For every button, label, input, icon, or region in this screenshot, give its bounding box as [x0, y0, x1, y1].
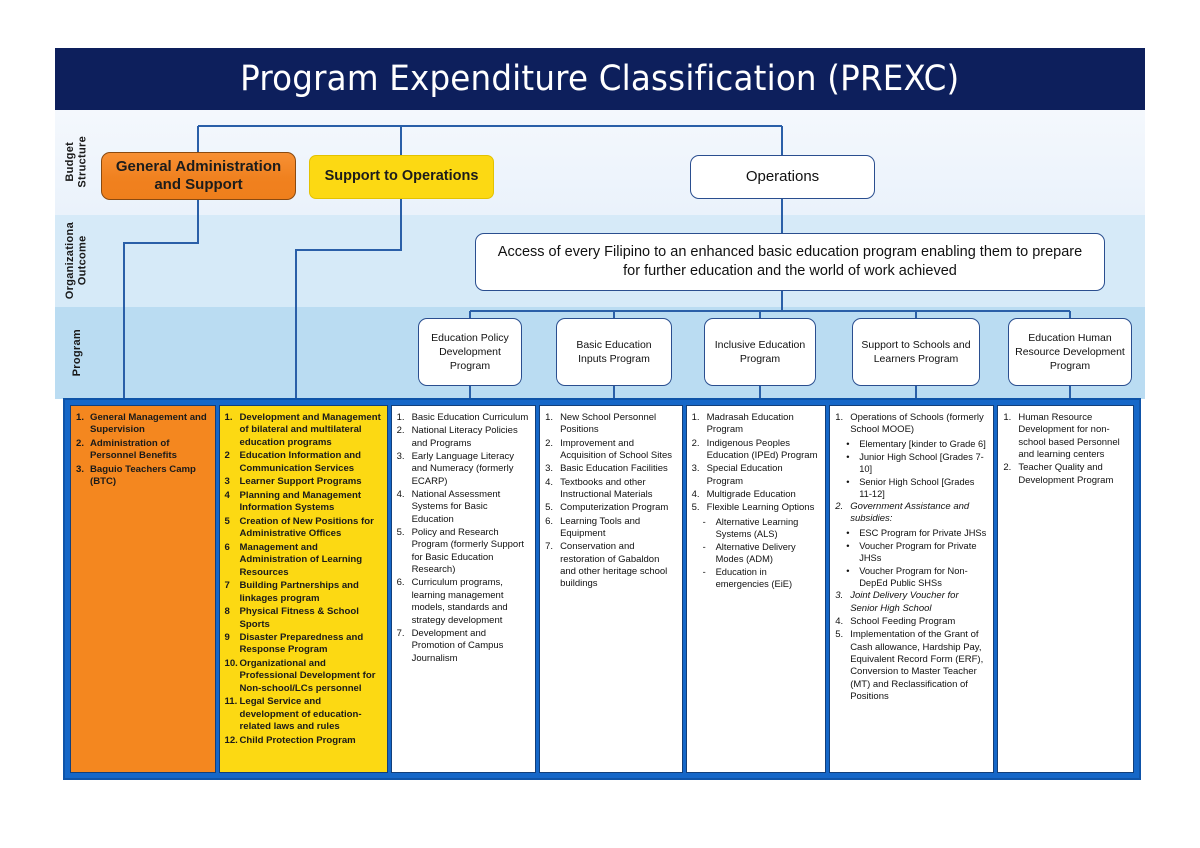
list-item: 2.Administration of Personnel Benefits [76, 438, 210, 463]
list-item-marker: - [703, 541, 717, 553]
list-item: 5.Policy and Research Program (formerly … [397, 527, 531, 576]
list-item-text: Textbooks and other Instructional Materi… [560, 477, 652, 500]
node-organizational-outcome-text: Access of every Filipino to an enhanced … [488, 243, 1092, 281]
list-item-marker: 4. [397, 489, 411, 501]
list-item-marker: 2. [835, 501, 849, 513]
list-item-text: Improvement and Acquisition of School Si… [560, 438, 672, 461]
detail-list: 1.Human Resource Development for non-sch… [1003, 412, 1128, 487]
list-item: 7Building Partnerships and linkages prog… [225, 580, 382, 605]
list-item-text: Planning and Management Information Syst… [240, 490, 362, 513]
list-item-text: Basic Education Facilities [560, 463, 668, 474]
list-item: 5.Implementation of the Grant of Cash al… [835, 629, 988, 703]
list-item: 6.Learning Tools and Equipment [545, 516, 677, 541]
detail-column-support-to-operations: 1.Development and Management of bilatera… [219, 405, 388, 773]
list-item: 3.Special Education Program [692, 463, 821, 488]
list-item-marker: 5 [225, 516, 239, 528]
node-general-administration-and-support[interactable]: General Administration and Support [101, 152, 296, 200]
detail-column-education-human-resource-development-program: 1.Human Resource Development for non-sch… [997, 405, 1134, 773]
list-item: 5.Flexible Learning Options [692, 502, 821, 514]
list-item-marker: 4. [835, 616, 849, 628]
list-item: •Voucher Program for Non-DepEd Public SH… [835, 565, 988, 589]
list-item-text: Indigenous Peoples Education (IPEd) Prog… [707, 438, 818, 461]
detail-list: 1.New School Personnel Positions2.Improv… [545, 412, 677, 591]
program-node-4[interactable]: Education Human Resource Development Pro… [1008, 318, 1132, 386]
list-item-text: Disaster Preparedness and Response Progr… [240, 632, 364, 655]
list-item-text: Physical Fitness & School Sports [240, 606, 359, 629]
list-item-text: General Management and Supervision [90, 412, 207, 435]
list-item: 11.Legal Service and development of educ… [225, 696, 382, 733]
list-item-marker: 4 [225, 490, 239, 502]
list-item: 3.Basic Education Facilities [545, 463, 677, 475]
list-item-marker: 1. [397, 412, 411, 424]
program-node-label: Education Human Resource Development Pro… [1014, 331, 1126, 374]
list-item-text: Basic Education Curriculum [412, 412, 529, 423]
row-label-organizational-outcome: Organizationa Outcome [58, 216, 96, 306]
list-item-marker: • [846, 451, 860, 463]
list-item-text: Junior High School [Grades 7-10] [859, 452, 984, 474]
program-node-0[interactable]: Education Policy Development Program [418, 318, 522, 386]
list-item-text: Multigrade Education [707, 489, 796, 500]
list-item: 4.Multigrade Education [692, 489, 821, 501]
list-item-text: Human Resource Development for non-schoo… [1018, 412, 1119, 460]
list-item-marker: 3. [692, 463, 706, 475]
list-item-text: Building Partnerships and linkages progr… [240, 580, 359, 603]
list-item-text: Early Language Literacy and Numeracy (fo… [412, 451, 514, 487]
list-item-marker: 7. [545, 541, 559, 553]
program-node-label: Support to Schools and Learners Program [858, 338, 974, 366]
list-item-marker: 1. [545, 412, 559, 424]
list-item-marker: 8 [225, 606, 239, 618]
list-item: 2.Improvement and Acquisition of School … [545, 438, 677, 463]
list-item-text: Policy and Research Program (formerly Su… [412, 527, 524, 575]
list-item: 1.Basic Education Curriculum [397, 412, 531, 424]
list-item: -Education in emergencies (EiE) [692, 566, 821, 590]
node-operations[interactable]: Operations [690, 155, 875, 199]
list-item-marker: • [846, 540, 860, 552]
program-node-label: Education Policy Development Program [424, 331, 516, 374]
list-item-marker: 6 [225, 542, 239, 554]
list-item-marker: 9 [225, 632, 239, 644]
detail-column-general-administration-and-support: 1.General Management and Supervision2.Ad… [70, 405, 216, 773]
list-item-marker: 2. [692, 438, 706, 450]
list-item-text: Government Assistance and subsidies: [850, 501, 969, 524]
list-item-marker: 1. [76, 412, 90, 424]
list-item-text: Madrasah Education Program [707, 412, 794, 435]
list-item-text: Elementary [kinder to Grade 6] [859, 439, 986, 449]
list-item-text: New School Personnel Positions [560, 412, 656, 435]
list-item-marker: 3. [545, 463, 559, 475]
list-item: •Voucher Program for Private JHSs [835, 540, 988, 564]
list-item-text: Learner Support Programs [240, 476, 362, 487]
list-item: 8Physical Fitness & School Sports [225, 606, 382, 631]
list-item-text: Education in emergencies (EiE) [716, 567, 792, 589]
list-item: 2.Teacher Quality and Development Progra… [1003, 462, 1128, 487]
list-item-text: Operations of Schools (formerly School M… [850, 412, 984, 435]
list-item-text: Voucher Program for Non-DepEd Public SHS… [859, 566, 968, 588]
list-item: 1.Development and Management of bilatera… [225, 412, 382, 449]
list-item: 2.National Literacy Policies and Program… [397, 425, 531, 450]
program-node-label: Inclusive Education Program [710, 338, 810, 366]
list-item-text: Education Information and Communication … [240, 450, 362, 473]
detail-column-support-to-schools-and-learners-program: 1.Operations of Schools (formerly School… [829, 405, 994, 773]
list-item-text: Joint Delivery Voucher for Senior High S… [850, 590, 958, 613]
list-item-marker: 2. [397, 425, 411, 437]
list-item: 4Planning and Management Information Sys… [225, 490, 382, 515]
detail-list: 1.Basic Education Curriculum2.National L… [397, 412, 531, 665]
list-item-marker: 3 [225, 476, 239, 488]
list-item: 6.Curriculum programs, learning manageme… [397, 577, 531, 626]
program-node-label: Basic Education Inputs Program [562, 338, 666, 366]
list-item-marker: 3. [76, 464, 90, 476]
detail-list: 1.Development and Management of bilatera… [225, 412, 382, 747]
list-item-marker: 2. [76, 438, 90, 450]
list-item-text: Legal Service and development of educati… [240, 696, 362, 732]
node-sto-label: Support to Operations [325, 168, 479, 185]
list-item-text: Special Education Program [707, 463, 783, 486]
list-item: 5.Computerization Program [545, 502, 677, 514]
list-item-marker: 5. [545, 502, 559, 514]
list-item-text: Computerization Program [560, 502, 668, 513]
list-item: 3Learner Support Programs [225, 476, 382, 488]
list-item: •Junior High School [Grades 7-10] [835, 451, 988, 475]
list-item-marker: 1. [692, 412, 706, 424]
list-item: 1.Madrasah Education Program [692, 412, 821, 437]
list-item-text: Organizational and Professional Developm… [240, 658, 376, 694]
list-item-text: Child Protection Program [240, 735, 356, 746]
list-item-text: ESC Program for Private JHSs [859, 528, 986, 538]
list-item-marker: 10. [225, 658, 239, 670]
list-item: 9Disaster Preparedness and Response Prog… [225, 632, 382, 657]
prexc-diagram: Program Expenditure Classification (PREX… [0, 0, 1200, 848]
list-item: •Elementary [kinder to Grade 6] [835, 438, 988, 450]
list-item-marker: - [703, 566, 717, 578]
list-item-text: Alternative Delivery Modes (ADM) [716, 542, 796, 564]
list-item-marker: 1. [1003, 412, 1017, 424]
list-item-text: Flexible Learning Options [707, 502, 815, 513]
list-item-marker: 2. [1003, 462, 1017, 474]
list-item: 12.Child Protection Program [225, 735, 382, 747]
detail-list: 1.Madrasah Education Program2.Indigenous… [692, 412, 821, 590]
row-label-program: Program [58, 308, 96, 398]
list-item: -Alternative Learning Systems (ALS) [692, 516, 821, 540]
list-item-text: Development and Management of bilateral … [240, 412, 381, 448]
list-item-marker: 6. [545, 516, 559, 528]
list-item: 1.New School Personnel Positions [545, 412, 677, 437]
list-item-text: National Assessment Systems for Basic Ed… [412, 489, 501, 525]
list-item-marker: 1. [835, 412, 849, 424]
list-item-marker: 5. [692, 502, 706, 514]
row-label-budget-structure: Budget Structure [58, 112, 96, 212]
program-node-1[interactable]: Basic Education Inputs Program [556, 318, 672, 386]
list-item: 3.Early Language Literacy and Numeracy (… [397, 451, 531, 488]
node-support-to-operations[interactable]: Support to Operations [309, 155, 494, 199]
list-item: 2.Government Assistance and subsidies: [835, 501, 988, 526]
list-item: 3.Baguio Teachers Camp (BTC) [76, 464, 210, 489]
detail-list: 1.General Management and Supervision2.Ad… [76, 412, 210, 489]
list-item-text: Baguio Teachers Camp (BTC) [90, 464, 196, 487]
list-item-marker: 2 [225, 450, 239, 462]
list-item-text: Development and Promotion of Campus Jour… [412, 628, 504, 664]
program-node-3[interactable]: Support to Schools and Learners Program [852, 318, 980, 386]
list-item: 10.Organizational and Professional Devel… [225, 658, 382, 695]
list-item-marker: 4. [692, 489, 706, 501]
list-item: 1.Operations of Schools (formerly School… [835, 412, 988, 437]
list-item: 2.Indigenous Peoples Education (IPEd) Pr… [692, 438, 821, 463]
list-item-marker: 5. [397, 527, 411, 539]
list-item-text: Conservation and restoration of Gabaldon… [560, 541, 667, 589]
node-organizational-outcome[interactable]: Access of every Filipino to an enhanced … [475, 233, 1105, 291]
list-item-marker: • [846, 438, 860, 450]
list-item: •ESC Program for Private JHSs [835, 527, 988, 539]
list-item: 6Management and Administration of Learni… [225, 542, 382, 579]
list-item-text: Senior High School [Grades 11-12] [859, 477, 974, 499]
list-item: 1.Human Resource Development for non-sch… [1003, 412, 1128, 461]
list-item: 7.Development and Promotion of Campus Jo… [397, 628, 531, 665]
list-item-text: School Feeding Program [850, 616, 955, 627]
list-item-marker: 6. [397, 577, 411, 589]
list-item-text: Learning Tools and Equipment [560, 516, 640, 539]
list-item: -Alternative Delivery Modes (ADM) [692, 541, 821, 565]
program-node-2[interactable]: Inclusive Education Program [704, 318, 816, 386]
list-item-text: National Literacy Policies and Programs [412, 425, 518, 448]
list-item-marker: - [703, 516, 717, 528]
list-item: 5Creation of New Positions for Administr… [225, 516, 382, 541]
list-item: 1.General Management and Supervision [76, 412, 210, 437]
node-operations-label: Operations [746, 168, 819, 186]
detail-column-basic-education-inputs-program: 1.New School Personnel Positions2.Improv… [539, 405, 683, 773]
list-item-marker: 4. [545, 477, 559, 489]
list-item: 4.Textbooks and other Instructional Mate… [545, 477, 677, 502]
row-label-organizational-outcome-text: Organizationa Outcome [64, 222, 89, 299]
list-item-marker: • [846, 527, 860, 539]
list-item-marker: 3. [397, 451, 411, 463]
list-item: 4.National Assessment Systems for Basic … [397, 489, 531, 526]
list-item: 3.Joint Delivery Voucher for Senior High… [835, 590, 988, 615]
node-gas-label: General Administration and Support [102, 158, 295, 194]
list-item-marker: • [846, 476, 860, 488]
list-item-marker: 2. [545, 438, 559, 450]
list-item-marker: 12. [225, 735, 239, 747]
list-item-marker: 7 [225, 580, 239, 592]
list-item: •Senior High School [Grades 11-12] [835, 476, 988, 500]
list-item-text: Implementation of the Grant of Cash allo… [850, 629, 983, 702]
list-item-marker: • [846, 565, 860, 577]
detail-column-education-policy-development-program: 1.Basic Education Curriculum2.National L… [391, 405, 537, 773]
list-item-marker: 1. [225, 412, 239, 424]
list-item-marker: 7. [397, 628, 411, 640]
page-title: Program Expenditure Classification (PREX… [240, 59, 959, 99]
list-item-marker: 5. [835, 629, 849, 641]
list-item: 7.Conservation and restoration of Gabald… [545, 541, 677, 590]
list-item-text: Teacher Quality and Development Program [1018, 462, 1113, 485]
list-item-text: Alternative Learning Systems (ALS) [716, 517, 799, 539]
detail-list: 1.Operations of Schools (formerly School… [835, 412, 988, 703]
list-item: 2Education Information and Communication… [225, 450, 382, 475]
row-label-budget-structure-text: Budget Structure [64, 136, 89, 188]
list-item-marker: 11. [225, 696, 239, 708]
detail-panel: 1.General Management and Supervision2.Ad… [63, 398, 1141, 780]
list-item-text: Voucher Program for Private JHSs [859, 541, 976, 563]
title-banner: Program Expenditure Classification (PREX… [55, 48, 1145, 110]
list-item-text: Curriculum programs, learning management… [412, 577, 508, 625]
list-item: 4.School Feeding Program [835, 616, 988, 628]
row-label-program-text: Program [71, 329, 84, 376]
list-item-text: Management and Administration of Learnin… [240, 542, 363, 578]
detail-column-inclusive-education-program: 1.Madrasah Education Program2.Indigenous… [686, 405, 827, 773]
list-item-marker: 3. [835, 590, 849, 602]
list-item-text: Administration of Personnel Benefits [90, 438, 177, 461]
list-item-text: Creation of New Positions for Administra… [240, 516, 374, 539]
